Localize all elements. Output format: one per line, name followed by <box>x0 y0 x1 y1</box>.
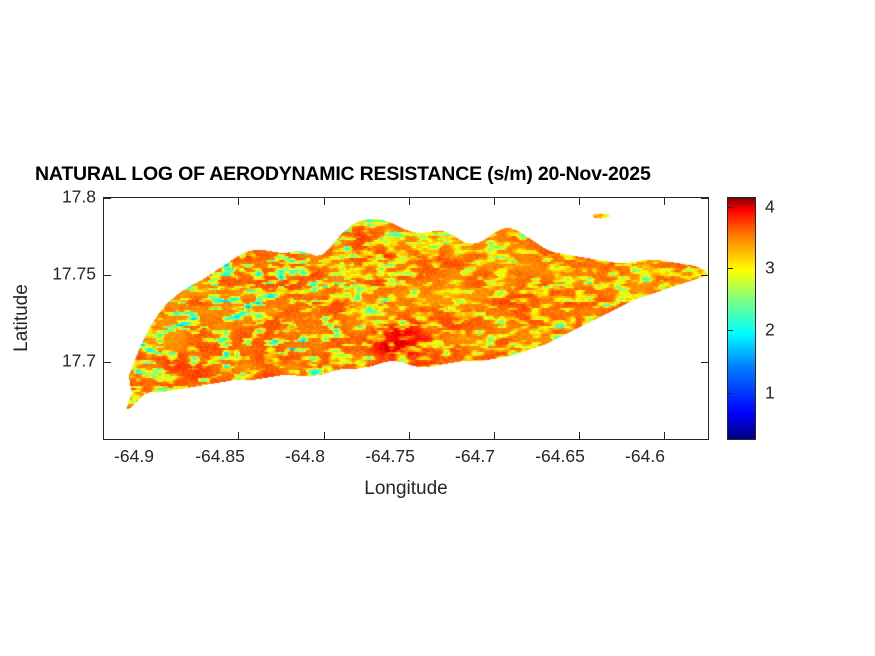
xticklabel-0: -64.9 <box>114 446 154 467</box>
colorbar-tick-1 <box>727 393 733 394</box>
x-axis-label: Longitude <box>364 478 447 500</box>
colorbar-tick-3 <box>727 268 733 269</box>
figure-canvas: NATURAL LOG OF AERODYNAMIC RESISTANCE (s… <box>0 0 875 656</box>
colorbar[interactable] <box>727 197 756 440</box>
xtick-top-4 <box>579 198 580 205</box>
ytick-right-1 <box>701 275 708 276</box>
xtick-bottom-1 <box>324 432 325 439</box>
xtick-bottom-3 <box>494 432 495 439</box>
xticklabel-4: -64.7 <box>455 446 495 467</box>
xtick-top-3 <box>494 198 495 205</box>
aerodynamic-resistance-heatmap <box>104 198 709 440</box>
colorbar-tick-2 <box>727 330 733 331</box>
ytick-left-2 <box>104 362 111 363</box>
y-axis-label: Latitude <box>11 284 33 352</box>
xtick-top-5 <box>664 198 665 205</box>
xtick-top-1 <box>324 198 325 205</box>
xtick-top-2 <box>409 198 410 205</box>
ytick-left-1 <box>104 275 111 276</box>
ytick-right-0 <box>701 198 708 199</box>
yticklabel-1: 17.75 <box>52 264 96 285</box>
xtick-bottom-4 <box>579 432 580 439</box>
xtick-bottom-5 <box>664 432 665 439</box>
xtick-bottom-2 <box>409 432 410 439</box>
colorbar-label-2: 2 <box>765 320 775 341</box>
page-title: NATURAL LOG OF AERODYNAMIC RESISTANCE (s… <box>35 163 651 186</box>
ytick-right-2 <box>701 362 708 363</box>
xtick-top-0 <box>238 198 239 205</box>
xtick-bottom-0 <box>238 432 239 439</box>
map-axes[interactable] <box>103 197 709 440</box>
yticklabel-0: 17.7 <box>62 351 96 372</box>
xticklabel-5: -64.65 <box>535 446 585 467</box>
colorbar-label-3: 3 <box>765 258 775 279</box>
xticklabel-2: -64.8 <box>285 446 325 467</box>
xticklabel-3: -64.75 <box>365 446 415 467</box>
colorbar-label-4: 4 <box>765 197 775 218</box>
xticklabel-1: -64.85 <box>195 446 245 467</box>
yticklabel-2: 17.8 <box>62 187 96 208</box>
colorbar-tick-4 <box>727 207 733 208</box>
ytick-left-0 <box>104 198 111 199</box>
colorbar-label-1: 1 <box>765 383 775 404</box>
xticklabel-6: -64.6 <box>625 446 665 467</box>
